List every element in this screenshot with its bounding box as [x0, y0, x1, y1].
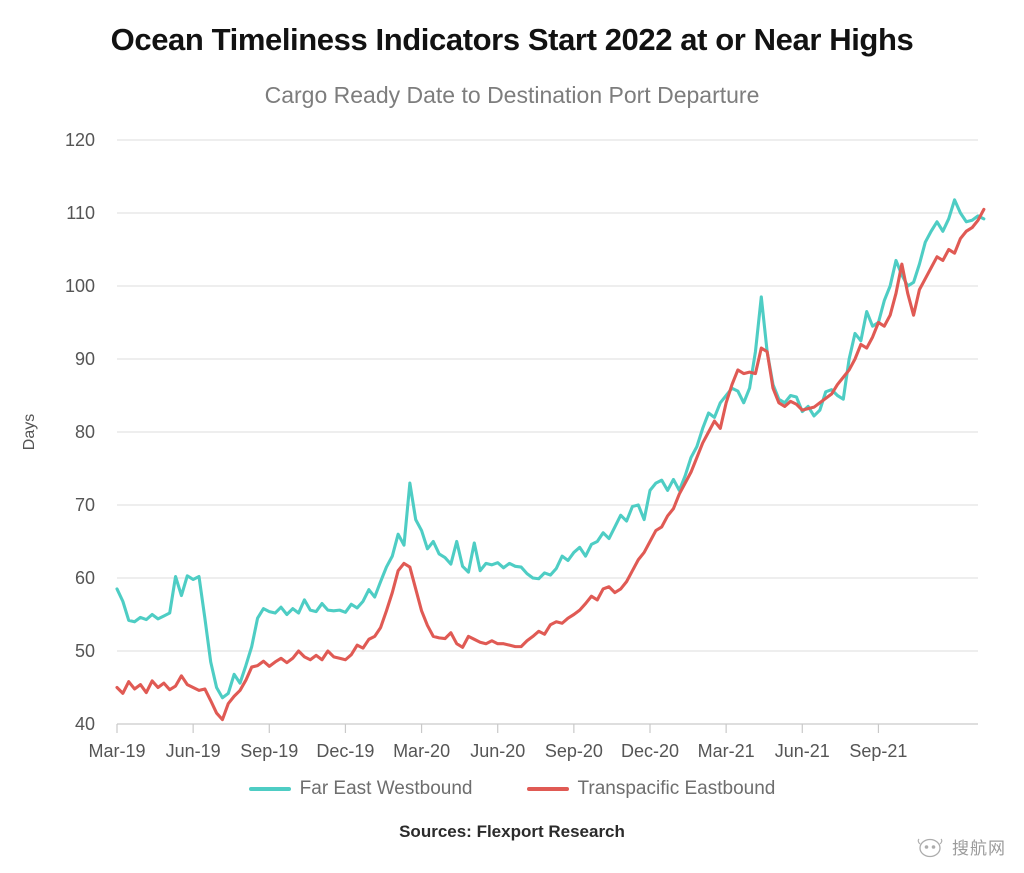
y-tick-label: 100	[65, 276, 95, 296]
data-series-group	[117, 200, 984, 720]
y-axis-label: Days	[21, 414, 38, 450]
y-tick-label: 50	[75, 641, 95, 661]
chart-sources: Sources: Flexport Research	[0, 822, 1024, 842]
x-tick-label: Jun-19	[166, 741, 221, 761]
y-tick-label: 80	[75, 422, 95, 442]
chart-title: Ocean Timeliness Indicators Start 2022 a…	[0, 22, 1024, 58]
x-tick-label: Jun-21	[775, 741, 830, 761]
chart-subtitle: Cargo Ready Date to Destination Port Dep…	[0, 82, 1024, 109]
chart-container: Ocean Timeliness Indicators Start 2022 a…	[0, 0, 1024, 873]
y-tick-label: 70	[75, 495, 95, 515]
watermark: 搜航网	[915, 834, 1006, 859]
x-tick-label: Dec-19	[316, 741, 374, 761]
x-tick-label: Sep-19	[240, 741, 298, 761]
legend-item-transpacific-eastbound[interactable]: Transpacific Eastbound	[527, 778, 776, 800]
legend-swatch-icon	[249, 787, 291, 791]
y-tick-label: 60	[75, 568, 95, 588]
x-tick-label: Jun-20	[470, 741, 525, 761]
x-tick-label: Sep-20	[545, 741, 603, 761]
y-tick-label: 90	[75, 349, 95, 369]
x-tick-label: Sep-21	[849, 741, 907, 761]
chart-legend: Far East Westbound Transpacific Eastboun…	[0, 778, 1024, 800]
legend-label: Far East Westbound	[300, 778, 473, 800]
x-tick-label: Mar-20	[393, 741, 450, 761]
legend-item-far-east-westbound[interactable]: Far East Westbound	[249, 778, 473, 800]
y-tick-label: 40	[75, 714, 95, 734]
legend-label: Transpacific Eastbound	[578, 778, 776, 800]
watermark-text: 搜航网	[952, 834, 1006, 859]
x-tick-label: Mar-19	[88, 741, 145, 761]
x-tick-label: Mar-21	[698, 741, 755, 761]
x-axis-tick-labels: Mar-19Jun-19Sep-19Dec-19Mar-20Jun-20Sep-…	[88, 741, 907, 761]
smiley-logo-icon	[915, 835, 945, 859]
legend-swatch-icon	[527, 787, 569, 791]
plot-area: 405060708090100110120 Mar-19Jun-19Sep-19…	[0, 112, 1024, 772]
y-axis-tick-labels: 405060708090100110120	[65, 130, 95, 734]
y-tick-label: 110	[66, 203, 95, 223]
line-chart-svg: 405060708090100110120 Mar-19Jun-19Sep-19…	[0, 112, 1024, 772]
x-axis-group	[117, 724, 978, 733]
y-tick-label: 120	[65, 130, 95, 150]
x-tick-label: Dec-20	[621, 741, 679, 761]
